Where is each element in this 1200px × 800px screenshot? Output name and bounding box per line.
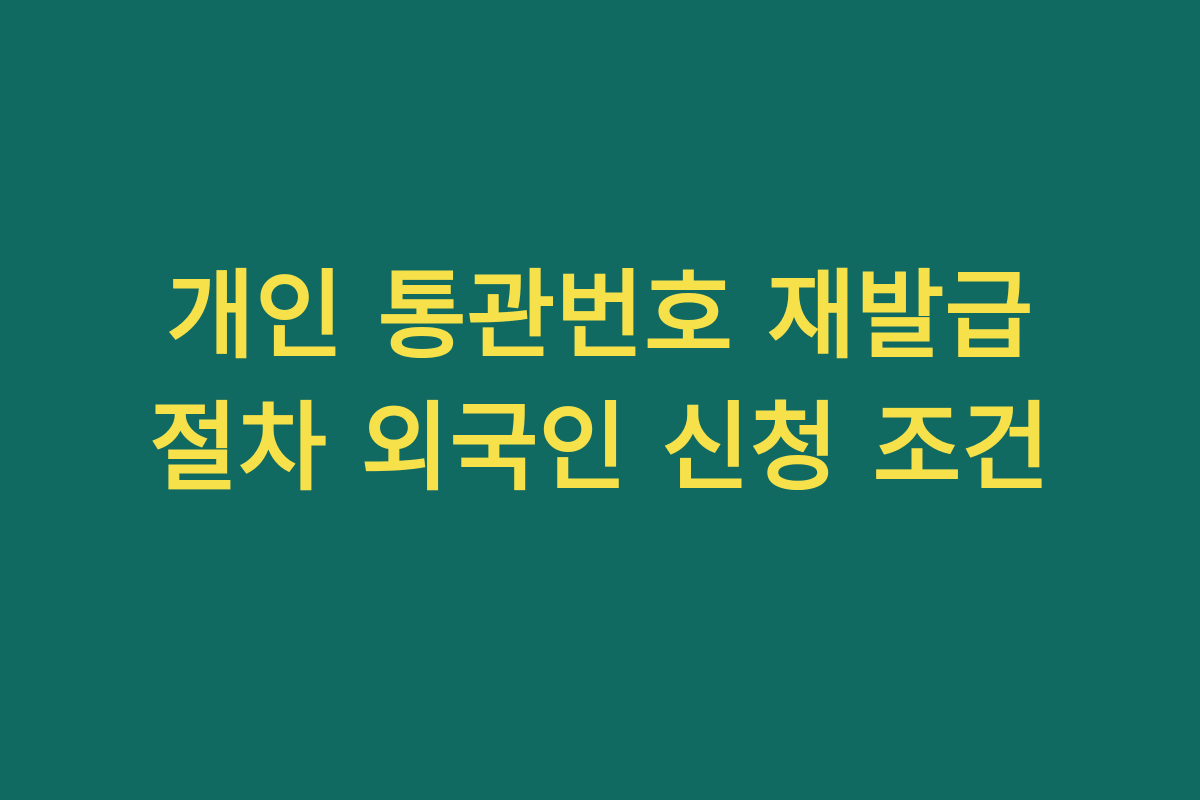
banner-title-block: 개인 통관번호 재발급 절차 외국인 신청 조건: [70, 250, 1130, 515]
page-title: 개인 통관번호 재발급 절차 외국인 신청 조건: [90, 250, 1110, 515]
banner-card: 개인 통관번호 재발급 절차 외국인 신청 조건: [0, 0, 1200, 800]
